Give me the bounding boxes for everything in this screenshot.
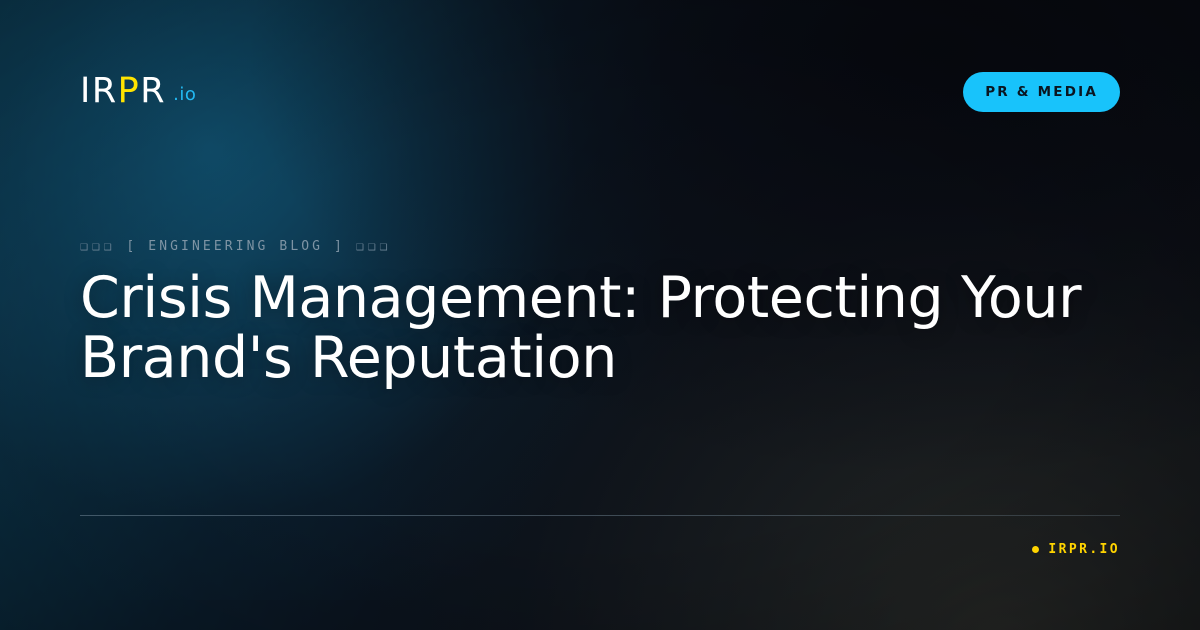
category-badge-label: PR & MEDIA (985, 84, 1098, 100)
brand-logo[interactable]: IRPR.io (80, 74, 196, 109)
kicker-label: [ ENGINEERING BLOG ] (126, 239, 345, 254)
kicker-ornament-right: ❑❑❑ (356, 239, 391, 254)
page-title: Crisis Management: Protecting Your Brand… (80, 268, 1090, 389)
logo-text-io: .io (173, 84, 196, 105)
kicker-ornament-left: ❑❑❑ (80, 239, 115, 254)
bullet-dot-icon (1032, 546, 1039, 553)
footer-site-label: IRPR.IO (1048, 542, 1120, 557)
og-banner-card: IRPR.io PR & MEDIA ❑❑❑ [ ENGINEERING BLO… (0, 0, 1200, 630)
card-content: IRPR.io PR & MEDIA ❑❑❑ [ ENGINEERING BLO… (0, 0, 1200, 630)
logo-text-p: P (118, 71, 141, 111)
kicker-line: ❑❑❑ [ ENGINEERING BLOG ] ❑❑❑ (80, 239, 391, 254)
horizontal-divider (80, 515, 1120, 516)
logo-text-ir: IR (80, 71, 118, 111)
footer-site-tag: IRPR.IO (1032, 542, 1120, 557)
logo-text-r: R (140, 71, 166, 111)
category-badge[interactable]: PR & MEDIA (963, 72, 1120, 112)
